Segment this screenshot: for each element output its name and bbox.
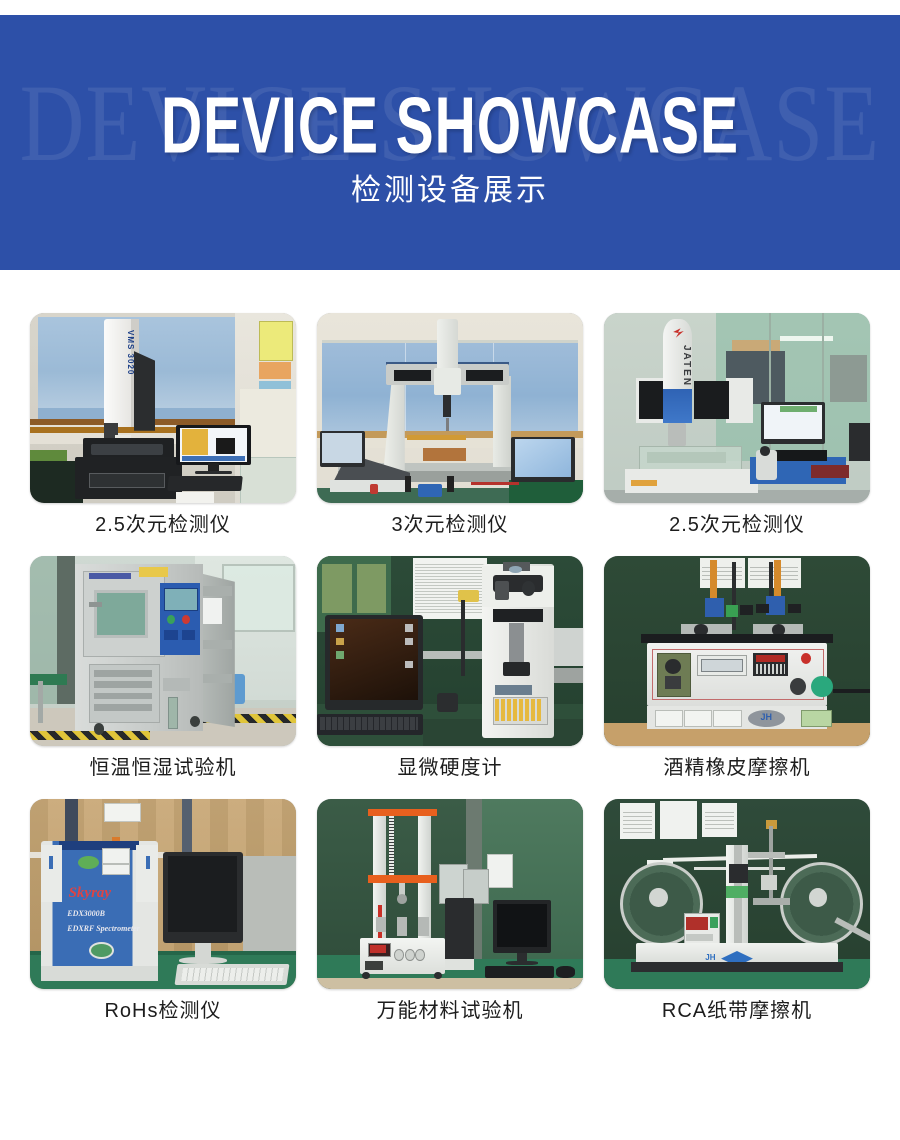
device-row: VMS 3020 2.5次元检测仪 (30, 313, 870, 547)
skyray-brand-label: Skyray (65, 885, 143, 902)
header-banner: DEVICE SHOWCASE DEVICE SHOWCASE 检测设备展示 (0, 15, 900, 270)
photo-micro-vickers-hardness-tester (317, 556, 583, 746)
photo-cmm-coordinate-measuring-machine (317, 313, 583, 503)
tester-logo-icon (426, 943, 445, 962)
photo-rca-paper-tape-abrasion-tester: JH (604, 799, 870, 989)
device-caption: RoHs检测仪 (30, 989, 296, 1033)
device-card[interactable]: VMS 3020 2.5次元检测仪 (30, 313, 296, 547)
device-grid: VMS 3020 2.5次元检测仪 (30, 313, 870, 1042)
photo-vms-3020-video-measuring-machine: VMS 3020 (30, 313, 296, 503)
photo-universal-material-testing-machine (317, 799, 583, 989)
device-card[interactable]: JH RCA纸带摩擦机 (604, 799, 870, 1033)
photo-jaten-video-measuring-machine: JATEN (604, 313, 870, 503)
jaten-brand-label: JATEN (660, 336, 692, 397)
device-caption: RCA纸带摩擦机 (604, 989, 870, 1033)
photo-alcohol-rubber-abrasion-tester: JH (604, 556, 870, 746)
device-card[interactable]: 3次元检测仪 (317, 313, 583, 547)
device-caption: 恒温恒湿试验机 (30, 746, 296, 790)
page-title: DEVICE SHOWCASE (36, 87, 864, 166)
device-showcase-page: DEVICE SHOWCASE DEVICE SHOWCASE 检测设备展示 V… (0, 0, 900, 1140)
device-card[interactable]: 显微硬度计 (317, 556, 583, 790)
device-caption: 显微硬度计 (317, 746, 583, 790)
page-subtitle: 检测设备展示 (0, 173, 900, 209)
device-row: 恒温恒湿试验机 (30, 556, 870, 790)
photo-constant-temperature-humidity-chamber (30, 556, 296, 746)
device-caption: 2.5次元检测仪 (30, 503, 296, 547)
device-card[interactable]: 万能材料试验机 (317, 799, 583, 1033)
device-caption: 万能材料试验机 (317, 989, 583, 1033)
device-row: Skyray EDX3000B EDXRF Spectrometer RoHs检… (30, 799, 870, 1033)
device-caption: 3次元检测仪 (317, 503, 583, 547)
photo-skyray-edxrf-spectrometer: Skyray EDX3000B EDXRF Spectrometer (30, 799, 296, 989)
device-card[interactable]: 恒温恒湿试验机 (30, 556, 296, 790)
device-card[interactable]: Skyray EDX3000B EDXRF Spectrometer RoHs检… (30, 799, 296, 1033)
machine-logo-label: JH (756, 712, 777, 723)
device-caption: 2.5次元检测仪 (604, 503, 870, 547)
skyray-type-label: EDXRF Spectrometer (67, 924, 147, 934)
device-card[interactable]: JATEN 2.5次元检测仪 (604, 313, 870, 547)
device-caption: 酒精橡皮摩擦机 (604, 746, 870, 790)
device-card[interactable]: JH 酒精橡皮摩擦机 (604, 556, 870, 790)
skyray-model-label: EDX3000B (67, 909, 136, 919)
vms-model-label: VMS 3020 (103, 328, 135, 377)
